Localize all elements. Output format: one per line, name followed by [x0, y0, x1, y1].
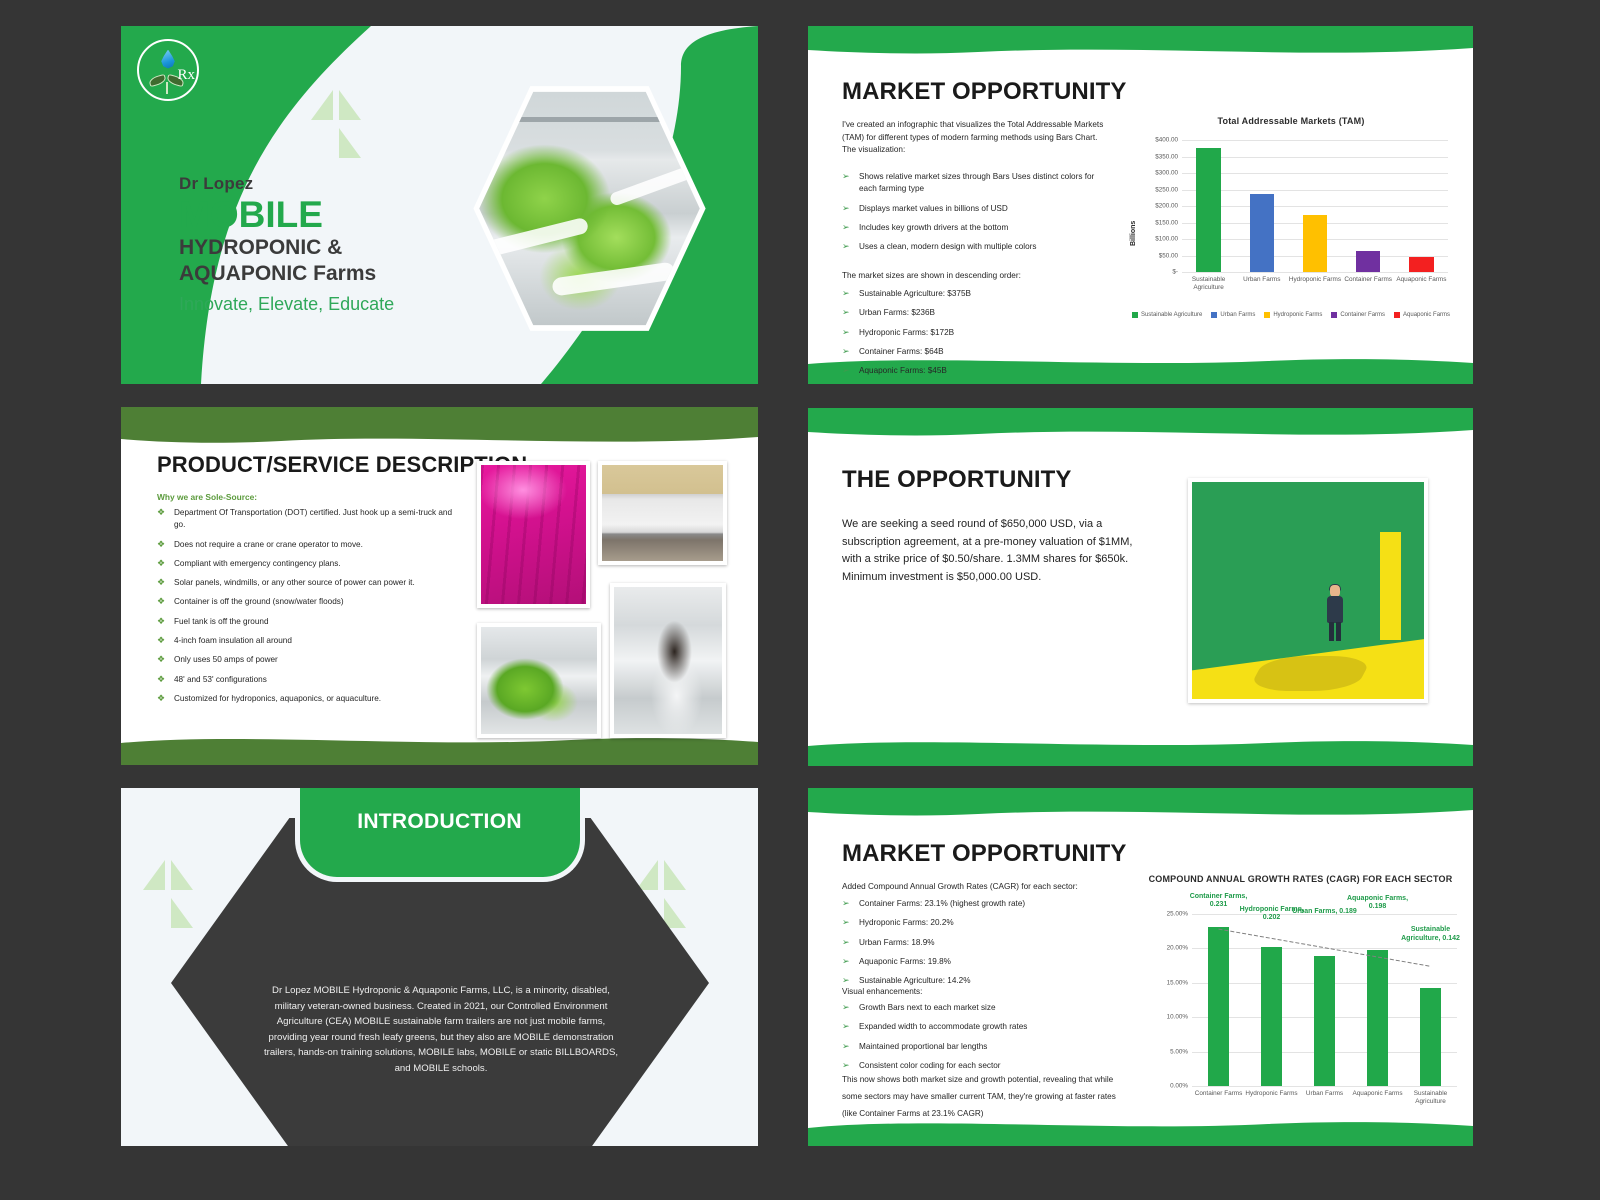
- chart-legend-item: Hydroponic Farms: [1264, 312, 1322, 318]
- chart-x-tick: Container Farms: [1192, 1090, 1245, 1098]
- chart-y-tick: $300.00: [1155, 170, 1178, 177]
- chart-gridline: [1182, 140, 1448, 141]
- chart-gridline: [1182, 272, 1448, 273]
- list-item-label: Does not require a crane or crane operat…: [174, 540, 363, 549]
- image-trailer: [598, 461, 727, 565]
- chart-tam: Total Addressable Markets (TAM) Billions…: [1126, 116, 1456, 331]
- list-item-label: Growth Bars next to each market size: [859, 1003, 996, 1012]
- page-title: PRODUCT/SERVICE DESCRIPTION: [157, 452, 527, 478]
- subhead-sole-source: Why we are Sole-Source:: [157, 492, 257, 502]
- list-item-label: Includes key growth drivers at the botto…: [859, 223, 1008, 232]
- intro-paragraph: I've created an infographic that visuali…: [842, 119, 1107, 157]
- chart-legend-item: Sustainable Agriculture: [1132, 312, 1202, 318]
- bullet-list-enhancements: ➢Growth Bars next to each market size ➢E…: [842, 1002, 1132, 1079]
- slide-market-opportunity-tam[interactable]: MARKET OPPORTUNITY I've created an infog…: [808, 26, 1473, 384]
- chart-y-tick: $350.00: [1155, 153, 1178, 160]
- arrow-bullet-icon: ➢: [842, 326, 850, 340]
- bullet-list-b: ➢Sustainable Agriculture: $375B ➢Urban F…: [842, 288, 1110, 384]
- chart-gridline: [1192, 948, 1457, 949]
- arrow-bullet-icon: ➢: [842, 170, 850, 184]
- chart-x-tick: Sustainable Agriculture: [1182, 276, 1235, 292]
- list-item-label: Department Of Transportation (DOT) certi…: [174, 508, 452, 529]
- intro-title-tab: INTRODUCTION: [295, 788, 585, 882]
- chart-y-tick: $400.00: [1155, 137, 1178, 144]
- list-item: ➢Urban Farms: 18.9%: [842, 937, 1132, 949]
- chart-y-tick: $200.00: [1155, 203, 1178, 210]
- list-item-label: Maintained proportional bar lengths: [859, 1042, 987, 1051]
- opportunity-illustration: [1188, 478, 1428, 703]
- list-item: ➢Aquaponic Farms: $45B: [842, 365, 1110, 377]
- chart-gridline: [1182, 190, 1448, 191]
- chart-bar: [1367, 950, 1388, 1086]
- list-item: ➢Includes key growth drivers at the bott…: [842, 222, 1110, 234]
- closing-paragraph: This now shows both market size and grow…: [842, 1072, 1132, 1122]
- chart-bar: [1196, 148, 1220, 272]
- opportunity-body: We are seeking a seed round of $650,000 …: [842, 516, 1152, 586]
- diamond-bullet-icon: ❖: [157, 653, 165, 667]
- chart-y-tick: $250.00: [1155, 186, 1178, 193]
- list-item: ❖4-inch foam insulation all around: [157, 635, 457, 647]
- chart-bar: [1250, 194, 1274, 272]
- list-item: ➢Hydroponic Farms: 20.2%: [842, 917, 1132, 929]
- image-lettuce-rows: [477, 623, 601, 738]
- chart-y-tick: $-: [1172, 269, 1178, 276]
- slide-product-service-description[interactable]: PRODUCT/SERVICE DESCRIPTION Why we are S…: [121, 407, 758, 765]
- header-wave: [808, 26, 1473, 60]
- page-title: THE OPPORTUNITY: [842, 466, 1072, 494]
- arrow-bullet-icon: ➢: [842, 221, 850, 235]
- list-item-label: Uses a clean, modern design with multipl…: [859, 242, 1036, 251]
- footer-wave: [808, 734, 1473, 766]
- intro-body-text: Dr Lopez MOBILE Hydroponic & Aquaponic F…: [261, 983, 621, 1076]
- list-item: ➢Growth Bars next to each market size: [842, 1002, 1132, 1014]
- chart-y-tick: 5.00%: [1170, 1048, 1188, 1055]
- page-title: MARKET OPPORTUNITY: [842, 78, 1126, 106]
- diamond-bullet-icon: ❖: [157, 634, 165, 648]
- chart-y-tick: 10.00%: [1167, 1014, 1188, 1021]
- chart-y-tick: 25.00%: [1167, 911, 1188, 918]
- list-item-label: Urban Farms: $236B: [859, 308, 935, 317]
- list-item: ❖Customized for hydroponics, aquaponics,…: [157, 693, 457, 705]
- bullet-list-a: ➢Shows relative market sizes through Bar…: [842, 171, 1110, 260]
- list-item-label: 48' and 53' configurations: [174, 675, 267, 684]
- chart-x-tick: Urban Farms: [1298, 1090, 1351, 1098]
- slide-title[interactable]: Rx Dr Lopez MOBILE HYDROPONIC & AQUAPONI…: [121, 26, 758, 384]
- diamond-bullet-icon: ❖: [157, 673, 165, 687]
- chart-gridline: [1182, 206, 1448, 207]
- chart-y-tick: 20.00%: [1167, 945, 1188, 952]
- list-item: ❖Department Of Transportation (DOT) cert…: [157, 507, 457, 532]
- chart-legend-item: Container Farms: [1331, 312, 1385, 318]
- list-item-label: Solar panels, windmills, or any other so…: [174, 578, 415, 587]
- headline-line2: HYDROPONIC &: [179, 235, 394, 261]
- arrow-bullet-icon: ➢: [842, 936, 850, 950]
- list-item: ➢Shows relative market sizes through Bar…: [842, 171, 1110, 196]
- list-item: ➢Container Farms: $64B: [842, 346, 1110, 358]
- list-item-label: Aquaponic Farms: 19.8%: [859, 957, 951, 966]
- list-item: ➢Maintained proportional bar lengths: [842, 1041, 1132, 1053]
- chart-x-tick: Sustainable Agriculture: [1404, 1090, 1457, 1106]
- list-item: ➢Urban Farms: $236B: [842, 307, 1110, 319]
- arrow-bullet-icon: ➢: [842, 202, 850, 216]
- list-item-label: Expanded width to accommodate growth rat…: [859, 1022, 1027, 1031]
- slide-introduction[interactable]: INTRODUCTION Dr Lopez MOBILE Hydroponic …: [121, 788, 758, 1146]
- chart-x-tick: Urban Farms: [1235, 276, 1288, 284]
- chart-bar: [1356, 251, 1380, 272]
- diamond-bullet-icon: ❖: [157, 576, 165, 590]
- tagline: Innovate, Elevate, Educate: [179, 294, 394, 315]
- chart-x-tick: Hydroponic Farms: [1245, 1090, 1298, 1098]
- list-item: ❖48' and 53' configurations: [157, 674, 457, 686]
- intro-title-label: INTRODUCTION: [357, 810, 522, 834]
- chart-y-axis-label: Billions: [1130, 221, 1137, 246]
- water-drop-icon: [161, 50, 176, 69]
- list-item: ➢Sustainable Agriculture: $375B: [842, 288, 1110, 300]
- arrow-bullet-icon: ➢: [842, 364, 850, 378]
- list-item-label: Urban Farms: 18.9%: [859, 938, 935, 947]
- arrow-bullet-icon: ➢: [842, 287, 850, 301]
- intro-paragraph: Added Compound Annual Growth Rates (CAGR…: [842, 881, 1132, 894]
- list-item-label: Container is off the ground (snow/water …: [174, 597, 344, 606]
- subhead-visual-enhancements: Visual enhancements:: [842, 986, 1132, 999]
- arrow-bullet-icon: ➢: [842, 916, 850, 930]
- list-item-label: Shows relative market sizes through Bars…: [859, 172, 1094, 193]
- diamond-bullet-icon: ❖: [157, 506, 165, 520]
- arrow-bullet-icon: ➢: [842, 1001, 850, 1015]
- title-text-block: Dr Lopez MOBILE HYDROPONIC & AQUAPONIC F…: [179, 174, 394, 315]
- header-wave: [121, 407, 758, 449]
- chart-x-tick: Container Farms: [1342, 276, 1395, 284]
- diamond-bullet-icon: ❖: [157, 557, 165, 571]
- list-item: ➢Consistent color coding for each sector: [842, 1060, 1132, 1072]
- chart-bar: [1409, 257, 1433, 272]
- wall-shape: [1380, 532, 1401, 641]
- image-grow-room: [477, 461, 590, 608]
- chart-y-tick: 0.00%: [1170, 1083, 1188, 1090]
- chart-x-tick: Hydroponic Farms: [1288, 276, 1341, 284]
- list-item: ❖Compliant with emergency contingency pl…: [157, 558, 457, 570]
- chart-gridline: [1182, 173, 1448, 174]
- businessman-figure: [1324, 585, 1346, 643]
- arrow-bullet-icon: ➢: [842, 240, 850, 254]
- list-item: ❖Fuel tank is off the ground: [157, 616, 457, 628]
- list-item: ❖Container is off the ground (snow/water…: [157, 596, 457, 608]
- eyebrow-text: Dr Lopez: [179, 174, 394, 194]
- diamond-bullet-icon: ❖: [157, 615, 165, 629]
- list-item-label: Container Farms: $64B: [859, 347, 944, 356]
- company-logo: Rx: [137, 39, 199, 101]
- list-item-label: Consistent color coding for each sector: [859, 1061, 1001, 1070]
- subhead-descending: The market sizes are shown in descending…: [842, 270, 1110, 283]
- rx-label: Rx: [177, 67, 195, 84]
- triangle-decoration: [311, 90, 381, 164]
- list-item: ➢Aquaponic Farms: 19.8%: [842, 956, 1132, 968]
- chart-plot-area: $-$50.00$100.00$150.00$200.00$250.00$300…: [1182, 140, 1448, 272]
- chart-y-tick: $100.00: [1155, 236, 1178, 243]
- chart-bar: [1261, 947, 1282, 1086]
- list-item-label: Sustainable Agriculture: $375B: [859, 289, 971, 298]
- chart-cagr: COMPOUND ANNUAL GROWTH RATES (CAGR) FOR …: [1138, 874, 1463, 1114]
- header-wave: [808, 788, 1473, 822]
- chart-x-tick: Aquaponic Farms: [1351, 1090, 1404, 1098]
- slide-deck: Rx Dr Lopez MOBILE HYDROPONIC & AQUAPONI…: [0, 0, 1600, 1200]
- slide-the-opportunity[interactable]: THE OPPORTUNITY We are seeking a seed ro…: [808, 408, 1473, 766]
- chart-data-label: Sustainable Agriculture, 0.142: [1394, 926, 1467, 943]
- list-item: ❖Only uses 50 amps of power: [157, 654, 457, 666]
- arrow-bullet-icon: ➢: [842, 306, 850, 320]
- chart-legend-item: Aquaponic Farms: [1394, 312, 1450, 318]
- chart-data-label: Aquaponic Farms, 0.198: [1341, 895, 1414, 912]
- arrow-bullet-icon: ➢: [842, 1020, 850, 1034]
- arrow-bullet-icon: ➢: [842, 1059, 850, 1073]
- chart-x-tick: Aquaponic Farms: [1395, 276, 1448, 284]
- chart-y-tick: $150.00: [1155, 219, 1178, 226]
- chart-plot-area: 0.00%5.00%10.00%15.00%20.00%25.00%Contai…: [1192, 914, 1457, 1086]
- list-item-label: Aquaponic Farms: $45B: [859, 366, 947, 375]
- arrow-bullet-icon: ➢: [842, 955, 850, 969]
- headline-line3: AQUAPONIC Farms: [179, 261, 394, 287]
- list-item: ➢Hydroponic Farms: $172B: [842, 327, 1110, 339]
- bullet-list-product: ❖Department Of Transportation (DOT) cert…: [157, 507, 457, 712]
- chart-bar: [1208, 927, 1229, 1086]
- arrow-bullet-icon: ➢: [842, 1040, 850, 1054]
- list-item-label: Compliant with emergency contingency pla…: [174, 559, 341, 568]
- diamond-bullet-icon: ❖: [157, 692, 165, 706]
- chart-bar: [1420, 988, 1441, 1086]
- list-item-label: Sustainable Agriculture: 14.2%: [859, 976, 971, 985]
- list-item-label: 4-inch foam insulation all around: [174, 636, 292, 645]
- list-item: ❖Solar panels, windmills, or any other s…: [157, 577, 457, 589]
- page-title: MARKET OPPORTUNITY: [842, 840, 1126, 868]
- chart-title: COMPOUND ANNUAL GROWTH RATES (CAGR) FOR …: [1138, 874, 1463, 884]
- diamond-bullet-icon: ❖: [157, 595, 165, 609]
- slide-market-opportunity-cagr[interactable]: MARKET OPPORTUNITY Added Compound Annual…: [808, 788, 1473, 1146]
- list-item-label: Only uses 50 amps of power: [174, 655, 278, 664]
- headline-mobile: MOBILE: [179, 196, 394, 235]
- header-wave: [808, 408, 1473, 442]
- bullet-list-cagr: ➢Container Farms: 23.1% (highest growth …: [842, 898, 1132, 994]
- arrow-bullet-icon: ➢: [842, 897, 850, 911]
- chart-title: Total Addressable Markets (TAM): [1126, 116, 1456, 126]
- list-item: ➢Uses a clean, modern design with multip…: [842, 241, 1110, 253]
- chart-y-tick: $50.00: [1159, 252, 1178, 259]
- chart-bar: [1303, 215, 1327, 272]
- list-item: ❖Does not require a crane or crane opera…: [157, 539, 457, 551]
- chart-legend: Sustainable AgricultureUrban FarmsHydrop…: [1126, 312, 1456, 318]
- list-item-label: Hydroponic Farms: $172B: [859, 328, 954, 337]
- list-item-label: Container Farms: 23.1% (highest growth r…: [859, 899, 1025, 908]
- diamond-bullet-icon: ❖: [157, 538, 165, 552]
- chart-y-tick: 15.00%: [1167, 979, 1188, 986]
- arrow-bullet-icon: ➢: [842, 345, 850, 359]
- list-item-label: Displays market values in billions of US…: [859, 204, 1008, 213]
- list-item: ➢Displays market values in billions of U…: [842, 203, 1110, 215]
- list-item-label: Fuel tank is off the ground: [174, 617, 269, 626]
- list-item-label: Hydroponic Farms: 20.2%: [859, 918, 954, 927]
- chart-bar: [1314, 956, 1335, 1086]
- list-item: ➢Expanded width to accommodate growth ra…: [842, 1021, 1132, 1033]
- list-item-label: Customized for hydroponics, aquaponics, …: [174, 694, 381, 703]
- image-lab-worker: [610, 583, 726, 738]
- chart-gridline: [1192, 1086, 1457, 1087]
- list-item: ➢Container Farms: 23.1% (highest growth …: [842, 898, 1132, 910]
- chart-gridline: [1182, 157, 1448, 158]
- chart-legend-item: Urban Farms: [1211, 312, 1255, 318]
